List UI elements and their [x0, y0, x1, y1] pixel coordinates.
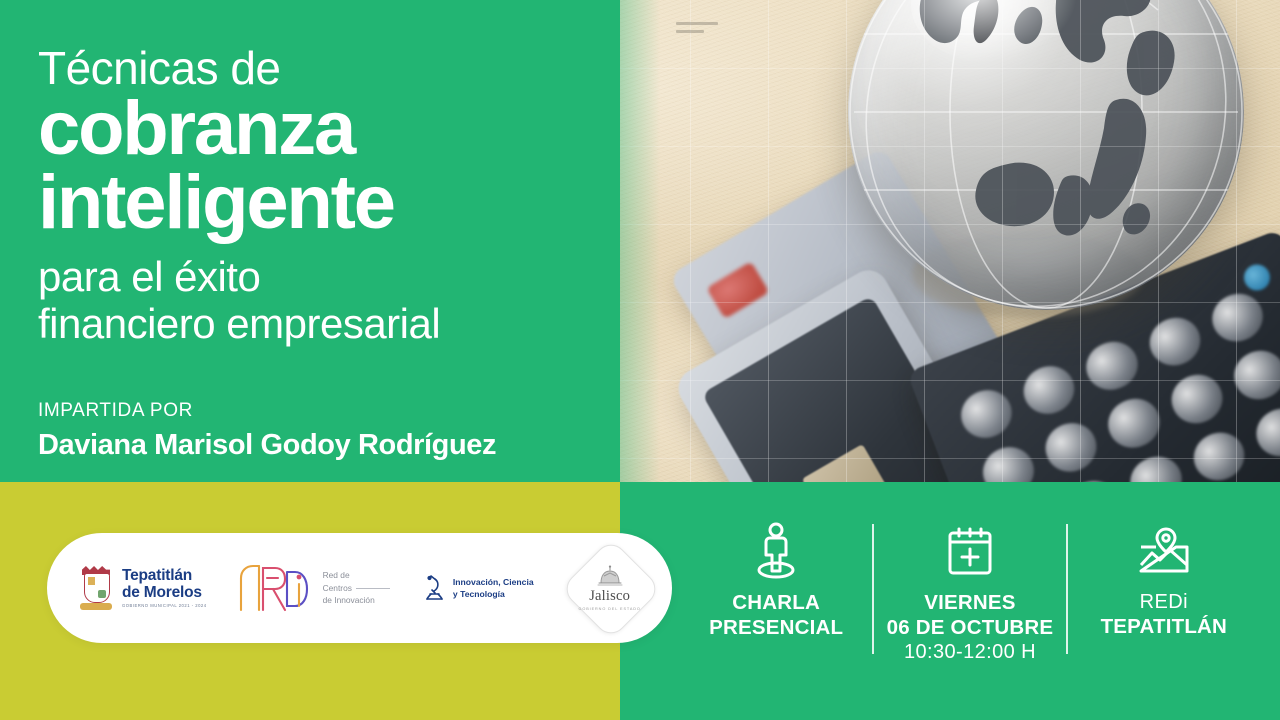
headline-panel: Técnicas de cobranza inteligente para el…	[0, 0, 620, 482]
logo-ict: Innovación, Ciencia y Tecnología	[422, 573, 534, 603]
crown-icon	[595, 565, 625, 587]
title-line-5: financiero empresarial	[38, 300, 598, 347]
microscope-icon	[422, 573, 446, 603]
person-presenter-icon	[686, 520, 866, 582]
ict-line-1: Innovación, Ciencia	[453, 576, 534, 588]
jalisco-name: Jalisco	[579, 589, 641, 604]
title-line-2: cobranza	[38, 93, 598, 165]
redi-line-2: Centros	[323, 583, 352, 593]
info-column-format: CHARLA PRESENCIAL	[680, 520, 872, 640]
event-poster: Técnicas de cobranza inteligente para el…	[0, 0, 1280, 720]
info-text-location: REDi TEPATITLÁN	[1074, 590, 1254, 639]
logo-tepatitlan: Tepatitlán de Morelos GOBIERNO MUNICIPAL…	[47, 566, 207, 610]
title-line-3: inteligente	[38, 167, 598, 239]
tepatitlan-line-1: Tepatitlán	[122, 568, 207, 585]
ict-text: Innovación, Ciencia y Tecnología	[453, 576, 534, 601]
title-line-4: para el éxito	[38, 253, 598, 300]
speaker-block: IMPARTIDA POR Daviana Marisol Godoy Rodr…	[38, 400, 598, 463]
date-line-2: 06 DE OCTUBRE	[880, 615, 1060, 640]
format-line-1: CHARLA	[686, 590, 866, 615]
tepatitlan-text: Tepatitlán de Morelos GOBIERNO MUNICIPAL…	[122, 568, 207, 608]
location-line-1: REDi	[1074, 590, 1254, 614]
tepatitlan-micro-text: GOBIERNO MUNICIPAL 2021 - 2024	[122, 603, 207, 608]
event-info-bar: CHARLA PRESENCIAL VIERNES 06 DE OCTUBRE …	[680, 520, 1260, 680]
top-band: Técnicas de cobranza inteligente para el…	[0, 0, 1280, 482]
poster-title: Técnicas de cobranza inteligente para el…	[38, 44, 598, 347]
redi-text: Red de Centros de Innovación	[323, 569, 390, 607]
redi-line-1: Red de	[323, 569, 390, 582]
sponsor-logo-bar: Tepatitlán de Morelos GOBIERNO MUNICIPAL…	[47, 533, 672, 643]
info-column-date: VIERNES 06 DE OCTUBRE 10:30-12:00 H	[874, 520, 1066, 664]
event-photo	[620, 0, 1280, 482]
info-text-date: VIERNES 06 DE OCTUBRE 10:30-12:00 H	[880, 590, 1060, 664]
ict-line-2: y Tecnología	[453, 588, 534, 600]
map-pin-icon	[1074, 520, 1254, 582]
date-line-1: VIERNES	[880, 590, 1060, 615]
date-line-3: 10:30-12:00 H	[880, 640, 1060, 664]
jalisco-micro-text: GOBIERNO DEL ESTADO	[579, 607, 641, 611]
calendar-plus-icon	[880, 520, 1060, 582]
grid-overlay	[620, 0, 1280, 482]
format-line-2: PRESENCIAL	[686, 615, 866, 640]
info-column-location: REDi TEPATITLÁN	[1068, 520, 1260, 639]
redi-line-3: de Innovación	[323, 594, 390, 607]
paper-marks	[676, 22, 722, 38]
redi-rule	[356, 588, 390, 589]
location-line-2: TEPATITLÁN	[1074, 614, 1254, 639]
coat-of-arms-icon	[79, 566, 113, 610]
logo-redi: Red de Centros de Innovación	[207, 562, 390, 614]
photo-left-fade	[620, 0, 660, 482]
redi-wordmark-icon	[237, 562, 311, 614]
logo-jalisco: Jalisco GOBIERNO DEL ESTADO	[564, 542, 656, 634]
info-text-format: CHARLA PRESENCIAL	[686, 590, 866, 640]
tepatitlan-line-2: de Morelos	[122, 585, 207, 602]
speaker-name: Daviana Marisol Godoy Rodríguez	[38, 427, 598, 463]
speaker-label: IMPARTIDA POR	[38, 400, 598, 423]
